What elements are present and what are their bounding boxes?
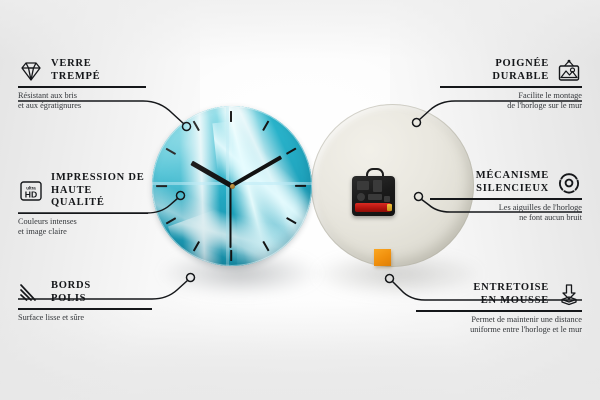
feature-title-line2: POLIS	[51, 293, 91, 306]
feature-title-line1: POIGNÉE	[492, 58, 549, 71]
feature-desc-line1: Couleurs intenses	[18, 217, 148, 227]
feature-desc-line2: et image claire	[18, 227, 148, 237]
feature-title-line2: HAUTE QUALITÉ	[51, 185, 148, 210]
feature-title-line1: ENTRETOISE	[473, 282, 549, 295]
feature-header: ultra HD IMPRESSION DE HAUTE QUALITÉ	[18, 172, 148, 210]
feature-rule	[18, 308, 152, 310]
feature-verre-trempe[interactable]: VERRE TREMPÉ Résistant aux bris et aux é…	[18, 58, 146, 111]
feature-impression-haute-qualite[interactable]: ultra HD IMPRESSION DE HAUTE QUALITÉ Cou…	[18, 172, 148, 238]
feature-rule	[18, 213, 148, 215]
gear-icon	[556, 171, 582, 195]
feature-title-line2: DURABLE	[492, 71, 549, 84]
ultra-hd-icon: ultra HD	[18, 179, 44, 203]
feature-title-line2: EN MOUSSE	[473, 295, 549, 308]
feature-header: VERRE TREMPÉ	[18, 58, 146, 83]
feature-title-line2: TREMPÉ	[51, 71, 100, 84]
feature-title-line2: SILENCIEUX	[476, 183, 549, 196]
feature-desc-line1: Résistant aux bris	[18, 91, 146, 101]
feature-title-line1: IMPRESSION DE	[51, 172, 148, 185]
feature-title-line1: VERRE	[51, 58, 100, 71]
feature-desc-line2: de l'horloge sur le mur	[440, 101, 582, 111]
feature-rule	[416, 310, 582, 312]
feature-desc-line2: uniforme entre l'horloge et le mur	[416, 325, 582, 335]
feature-title-line1: BORDS	[51, 280, 91, 293]
feature-desc-line2: ne font aucun bruit	[430, 213, 582, 223]
feature-header: POIGNÉE DURABLE	[440, 58, 582, 83]
svg-text:HD: HD	[25, 189, 37, 199]
feature-header: MÉCANISME SILENCIEUX	[430, 170, 582, 195]
feature-desc-line2: et aux égratignures	[18, 101, 146, 111]
feature-rule	[430, 198, 582, 200]
feature-desc-line1: Facilite le montage	[440, 91, 582, 101]
feature-desc-line1: Surface lisse et sûre	[18, 313, 152, 323]
feature-title-line1: MÉCANISME	[476, 170, 549, 183]
infographic-canvas: VERRE TREMPÉ Résistant aux bris et aux é…	[0, 0, 600, 400]
feature-desc-line1: Les aiguilles de l'horloge	[430, 203, 582, 213]
feature-rule	[18, 86, 146, 88]
diagonal-lines-icon	[18, 281, 44, 305]
diamond-icon	[18, 59, 44, 83]
feature-mecanisme-silencieux[interactable]: MÉCANISME SILENCIEUX Les aiguilles de l'…	[430, 170, 582, 223]
feature-desc-line1: Permet de maintenir une distance	[416, 315, 582, 325]
feature-poignee-durable[interactable]: POIGNÉE DURABLE Facilite le montage de l…	[440, 58, 582, 111]
feature-header: BORDS POLIS	[18, 280, 152, 305]
feature-entretoise-en-mousse[interactable]: ENTRETOISE EN MOUSSE Permet de maintenir…	[416, 282, 582, 335]
feature-rule	[440, 86, 582, 88]
picture-hanger-icon	[556, 59, 582, 83]
press-down-pad-icon	[556, 283, 582, 307]
feature-header: ENTRETOISE EN MOUSSE	[416, 282, 582, 307]
feature-bords-polis[interactable]: BORDS POLIS Surface lisse et sûre	[18, 280, 152, 323]
